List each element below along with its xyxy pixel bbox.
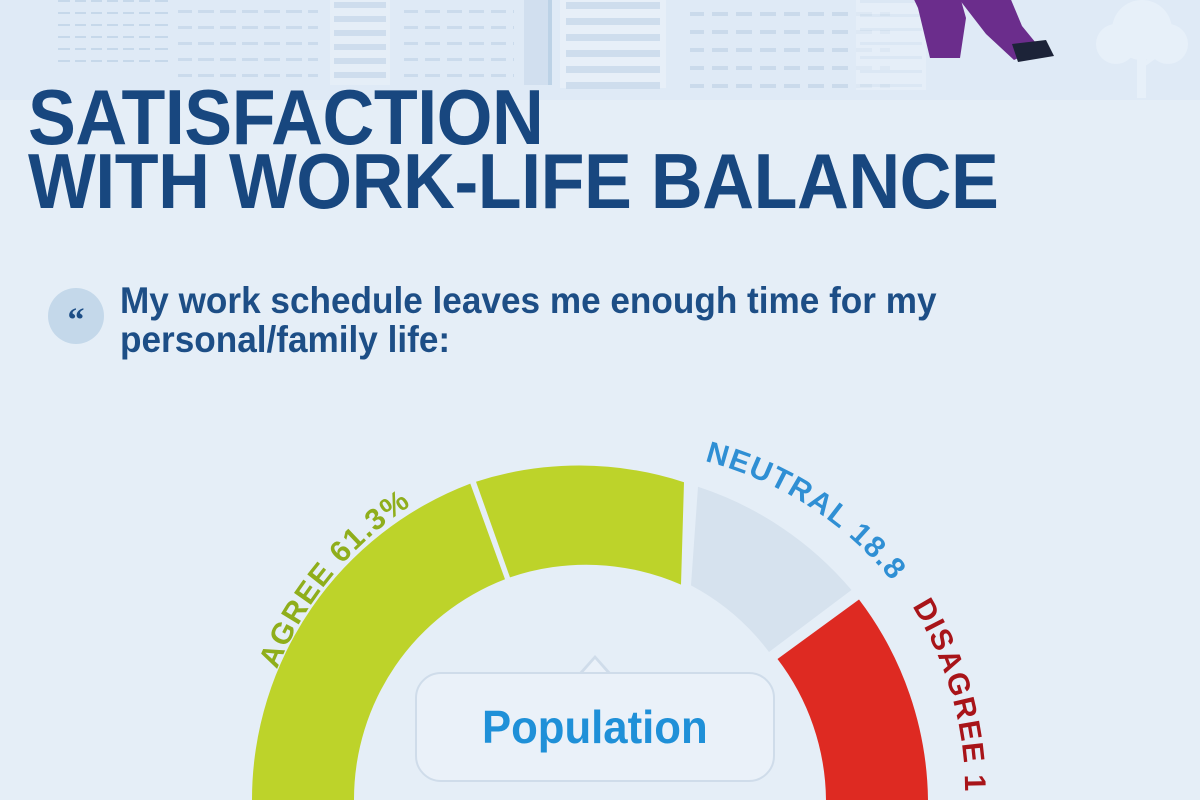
- population-label: Population: [482, 700, 708, 754]
- title-line-2: WITH WORK-LIFE BALANCE: [28, 146, 1095, 216]
- quote-mark-icon: “: [48, 288, 104, 344]
- document-icon: [560, 0, 666, 89]
- quote-block: “ My work schedule leaves me enough time…: [48, 282, 1178, 360]
- quote-mark-glyph: “: [68, 304, 85, 338]
- page-title: SATISFACTION WITH WORK-LIFE BALANCE: [28, 82, 1188, 216]
- population-callout[interactable]: Population: [415, 672, 775, 782]
- donut-segment-agree-upper[interactable]: [476, 466, 684, 585]
- quote-text: My work schedule leaves me enough time f…: [120, 282, 1125, 360]
- building-icon: [856, 0, 926, 90]
- donut-segment-disagree[interactable]: [778, 600, 929, 800]
